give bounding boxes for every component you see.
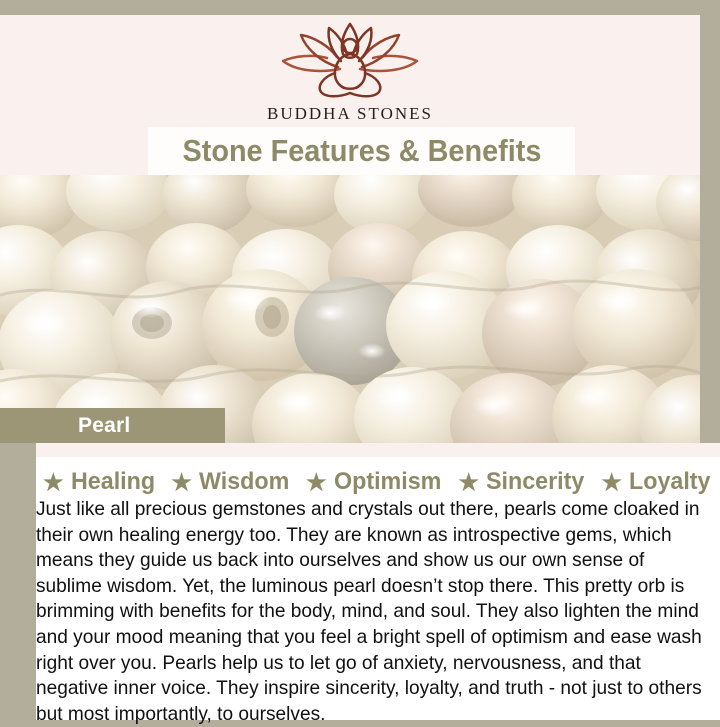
- brand-logo: BUDDHA STONES: [0, 15, 700, 135]
- benefit-label: Sincerity: [486, 468, 584, 496]
- star-icon: ★: [306, 471, 327, 494]
- benefit-label: Wisdom: [199, 468, 289, 496]
- benefit-item-sincerity: ★ Sincerity: [458, 468, 587, 496]
- benefits-list: ★ Healing ★ Wisdom ★ Optimism ★ Sincerit…: [36, 466, 720, 498]
- title-banner: Stone Features & Benefits: [148, 127, 575, 175]
- star-icon: ★: [43, 471, 64, 494]
- benefit-item-wisdom: ★ Wisdom: [171, 468, 292, 496]
- benefit-item-optimism: ★ Optimism: [306, 468, 444, 496]
- description-block: Just like all precious gemstones and cry…: [36, 497, 720, 727]
- benefit-label: Healing: [71, 468, 155, 496]
- benefit-label: Optimism: [334, 468, 441, 496]
- benefit-item-healing: ★ Healing: [43, 468, 157, 496]
- lotus-meditation-logo-icon: [265, 21, 435, 103]
- star-icon: ★: [171, 471, 192, 494]
- benefit-label: Loyalty: [629, 468, 711, 496]
- page-canvas: BUDDHA STONES Stone Features & Benefits: [0, 0, 720, 720]
- panel-top-strip: [36, 443, 720, 457]
- star-icon: ★: [601, 471, 622, 494]
- stone-name: Pearl: [78, 414, 130, 438]
- page-title: Stone Features & Benefits: [182, 133, 541, 169]
- description-text: Just like all precious gemstones and cry…: [36, 497, 706, 727]
- benefit-item-loyalty: ★ Loyalty: [601, 468, 713, 496]
- pearl-photo-image: [0, 175, 700, 443]
- brand-name: BUDDHA STONES: [267, 104, 433, 124]
- stone-name-badge: Pearl: [0, 408, 225, 443]
- star-icon: ★: [458, 471, 479, 494]
- pearl-photo: [0, 175, 700, 443]
